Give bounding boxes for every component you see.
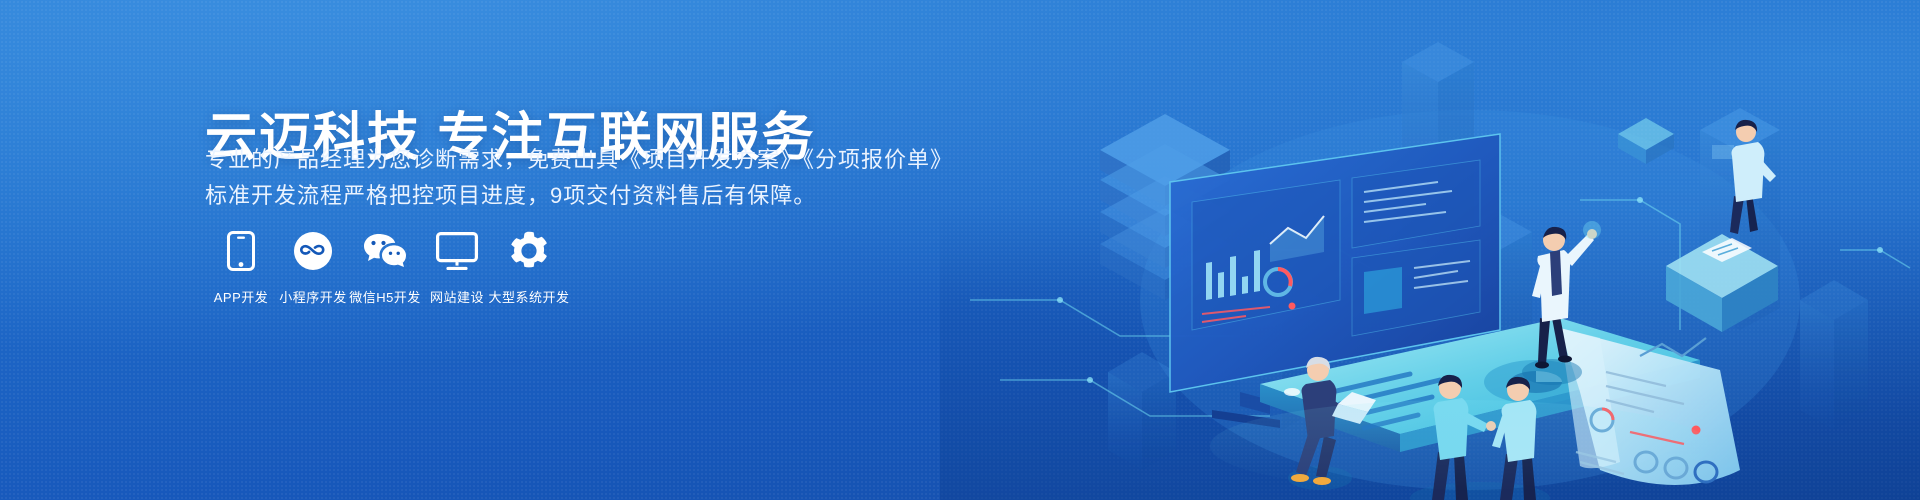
service-label-wechat: 微信H5开发 (349, 290, 421, 306)
hero-banner: 云迈科技 专注互联网服务 专业的产品经理为您诊断需求，免费出具《项目开发方案》《… (0, 0, 1920, 500)
service-icon-row: APP开发 小程序开发 (205, 228, 565, 306)
subtitle-line-2: 标准开发流程严格把控项目进度，9项交付资料售后有保障。 (205, 178, 925, 214)
service-label-app: APP开发 (214, 290, 269, 306)
subtitle-line-1: 专业的产品经理为您诊断需求，免费出具《项目开发方案》《分项报价单》 (205, 142, 925, 178)
service-item-app[interactable]: APP开发 (205, 228, 277, 306)
service-item-wechat[interactable]: 微信H5开发 (349, 228, 421, 306)
service-label-mini-program: 小程序开发 (279, 290, 347, 306)
desktop-monitor-icon (436, 228, 478, 274)
mini-program-icon (293, 228, 333, 274)
mobile-phone-icon (227, 228, 255, 274)
banner-content: 云迈科技 专注互联网服务 专业的产品经理为您诊断需求，免费出具《项目开发方案》《… (205, 0, 965, 500)
wechat-icon (362, 228, 408, 274)
banner-subtitle: 专业的产品经理为您诊断需求，免费出具《项目开发方案》《分项报价单》 标准开发流程… (205, 142, 925, 214)
service-item-large-system[interactable]: 大型系统开发 (493, 228, 565, 306)
gear-icon (509, 228, 549, 274)
isometric-data-dashboard-illustration (940, 0, 1920, 500)
service-label-large-system: 大型系统开发 (489, 290, 570, 306)
service-label-website: 网站建设 (430, 290, 484, 306)
service-item-website[interactable]: 网站建设 (421, 228, 493, 306)
service-item-mini-program[interactable]: 小程序开发 (277, 228, 349, 306)
